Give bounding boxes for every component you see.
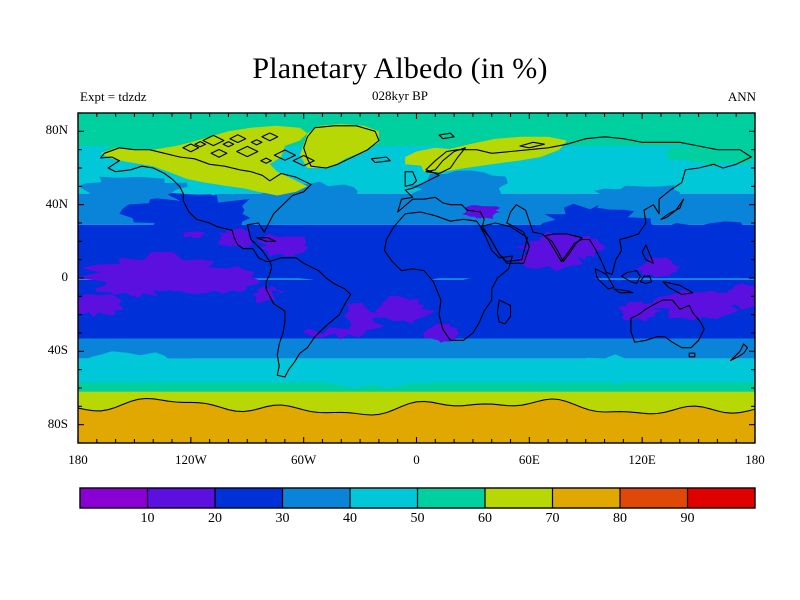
- colorbar-swatch: [80, 488, 148, 508]
- colorbar-swatch: [215, 488, 283, 508]
- colorbar-tick-label: 80: [590, 511, 650, 527]
- colorbar-tick-label: 90: [658, 511, 718, 527]
- colorbar-tick-label: 50: [388, 511, 448, 527]
- colorbar-swatch: [418, 488, 486, 508]
- colorbar-swatch: [485, 488, 553, 508]
- colorbar-swatch: [620, 488, 688, 508]
- x-tick-label: 60E: [499, 452, 559, 468]
- y-tick-label: 40S: [16, 342, 68, 358]
- albedo-map-figure: Planetary Albedo (in %) 028kyr BP Expt =…: [0, 0, 800, 600]
- colorbar-swatch: [283, 488, 351, 508]
- x-tick-label: 180: [725, 452, 785, 468]
- x-tick-label: 120W: [161, 452, 221, 468]
- colorbar-tick-label: 60: [455, 511, 515, 527]
- y-tick-label: 40N: [16, 196, 68, 212]
- albedo-patch: [66, 294, 124, 317]
- x-tick-label: 120E: [612, 452, 672, 468]
- colorbar-swatch: [350, 488, 418, 508]
- y-tick-label: 0: [16, 269, 68, 285]
- colorbar-tick-label: 10: [118, 511, 178, 527]
- colorbar-tick-label: 70: [523, 511, 583, 527]
- colorbar-tick-label: 40: [320, 511, 380, 527]
- albedo-field: [66, 113, 790, 443]
- colorbar-swatch: [553, 488, 621, 508]
- colorbar: [80, 488, 755, 508]
- y-tick-label: 80N: [16, 122, 68, 138]
- x-tick-label: 60W: [274, 452, 334, 468]
- map-canvas: [0, 0, 800, 600]
- x-tick-label: 180: [48, 452, 108, 468]
- x-tick-label: 0: [387, 452, 447, 468]
- y-tick-label: 80S: [16, 416, 68, 432]
- colorbar-swatch: [148, 488, 216, 508]
- colorbar-tick-label: 30: [253, 511, 313, 527]
- colorbar-swatch: [688, 488, 756, 508]
- colorbar-tick-label: 20: [185, 511, 245, 527]
